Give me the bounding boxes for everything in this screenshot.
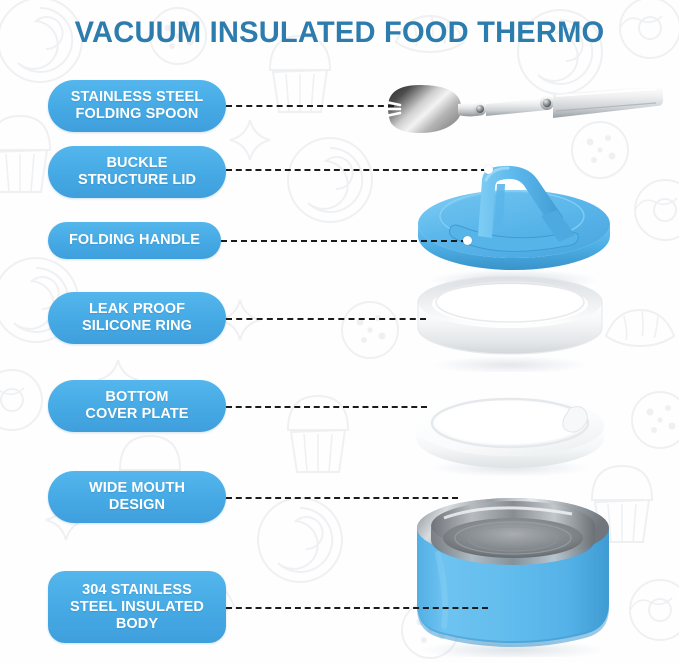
callout-bottom-cover-plate[interactable]: BOTTOM COVER PLATE (48, 380, 226, 432)
leader-line-bottom-cover-plate (226, 406, 427, 408)
leader-line-wide-mouth-design (226, 497, 458, 499)
callout-304-stainless-steel-insulated-body[interactable]: 304 STAINLESS STEEL INSULATED BODY (48, 571, 226, 643)
callout-label: LEAK PROOF SILICONE RING (56, 301, 218, 335)
buckle-structure-lid-illustration (408, 140, 618, 290)
leader-line-leak-proof-silicone-ring (226, 318, 426, 320)
callout-stainless-steel-folding-spoon[interactable]: STAINLESS STEEL FOLDING SPOON (48, 80, 226, 132)
callout-label: BUCKLE STRUCTURE LID (56, 155, 218, 189)
callout-label: FOLDING HANDLE (56, 232, 213, 249)
callout-label: WIDE MOUTH DESIGN (56, 480, 218, 514)
leader-line-buckle-structure-lid (226, 169, 487, 171)
leader-line-304-stainless-steel-insulated-body (226, 607, 488, 609)
callout-folding-handle[interactable]: FOLDING HANDLE (48, 222, 221, 259)
page-title: VACUUM INSULATED FOOD THERMO (10, 16, 669, 50)
callout-leak-proof-silicone-ring[interactable]: LEAK PROOF SILICONE RING (48, 292, 226, 344)
callout-buckle-structure-lid[interactable]: BUCKLE STRUCTURE LID (48, 146, 226, 198)
callout-wide-mouth-design[interactable]: WIDE MOUTH DESIGN (48, 471, 226, 523)
silicone-ring-illustration (410, 272, 610, 372)
insulated-body-illustration (404, 492, 622, 657)
folding-spork-illustration (372, 78, 672, 140)
callout-label: 304 STAINLESS STEEL INSULATED BODY (56, 582, 218, 633)
leader-line-stainless-steel-folding-spoon (226, 105, 394, 107)
bottom-cover-plate-illustration (408, 378, 612, 476)
callout-label: STAINLESS STEEL FOLDING SPOON (56, 89, 218, 123)
leader-line-folding-handle (221, 240, 467, 242)
callout-label: BOTTOM COVER PLATE (56, 389, 218, 423)
anchor-dot-folding-handle (463, 236, 472, 245)
product-infographic: VACUUM INSULATED FOOD THERMO STAINLESS S… (0, 0, 679, 663)
anchor-dot-buckle-structure-lid (484, 165, 493, 174)
